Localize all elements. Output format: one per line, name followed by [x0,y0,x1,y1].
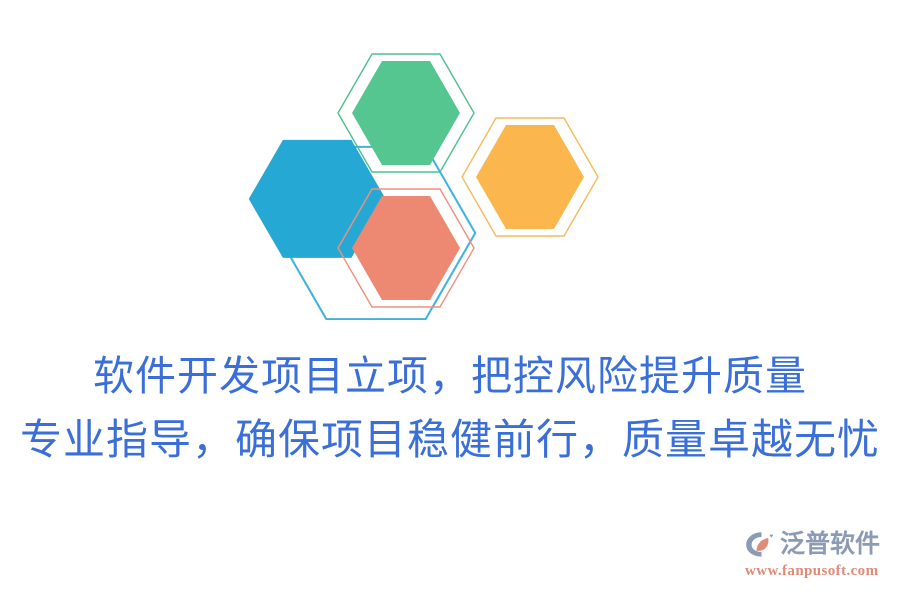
headline-line-2: 专业指导，确保项目稳健前行，质量卓越无忧 [0,409,900,474]
hexagon-cluster [200,20,620,320]
fanpu-logo-icon [744,529,776,559]
green-hexagon-fill [352,61,460,165]
headline-block: 软件开发项目立项，把控风险提升质量 专业指导，确保项目稳健前行，质量卓越无忧 [0,344,900,474]
poster-canvas: 软件开发项目立项，把控风险提升质量 专业指导，确保项目稳健前行，质量卓越无忧 泛… [0,0,900,600]
hexagon-cluster-svg [200,20,620,320]
watermark-url: www.fanpusoft.com [744,563,884,580]
headline-line-1: 软件开发项目立项，把控风险提升质量 [0,344,900,409]
orange-hexagon-fill [476,125,584,229]
watermark-brand-row: 泛普软件 [744,526,884,562]
watermark-brand-name: 泛普软件 [780,529,880,559]
brand-watermark: 泛普软件 www.fanpusoft.com [744,526,884,588]
